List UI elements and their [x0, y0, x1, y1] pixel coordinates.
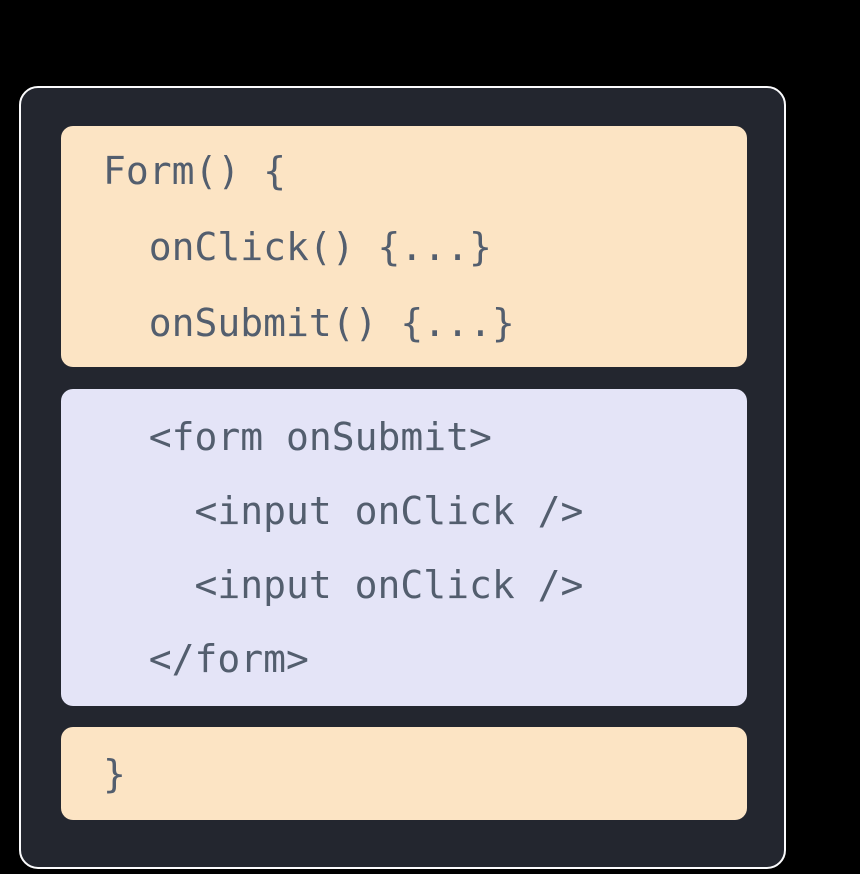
code-line: <form onSubmit>	[61, 400, 747, 474]
code-line: onClick() {...}	[61, 209, 747, 285]
code-line: </form>	[61, 622, 747, 696]
code-line: }	[61, 737, 747, 811]
code-block-component-signature: Form() { onClick() {...} onSubmit() {...…	[61, 126, 747, 367]
code-line: <input onClick />	[61, 474, 747, 548]
code-card: Form() { onClick() {...} onSubmit() {...…	[19, 86, 786, 869]
code-block-component-close: }	[61, 727, 747, 820]
code-line: onSubmit() {...}	[61, 285, 747, 361]
code-block-rendered-markup: <form onSubmit> <input onClick /> <input…	[61, 389, 747, 706]
code-line: Form() {	[61, 133, 747, 209]
code-line: <input onClick />	[61, 548, 747, 622]
screenshot-canvas: Form() { onClick() {...} onSubmit() {...…	[0, 0, 860, 874]
